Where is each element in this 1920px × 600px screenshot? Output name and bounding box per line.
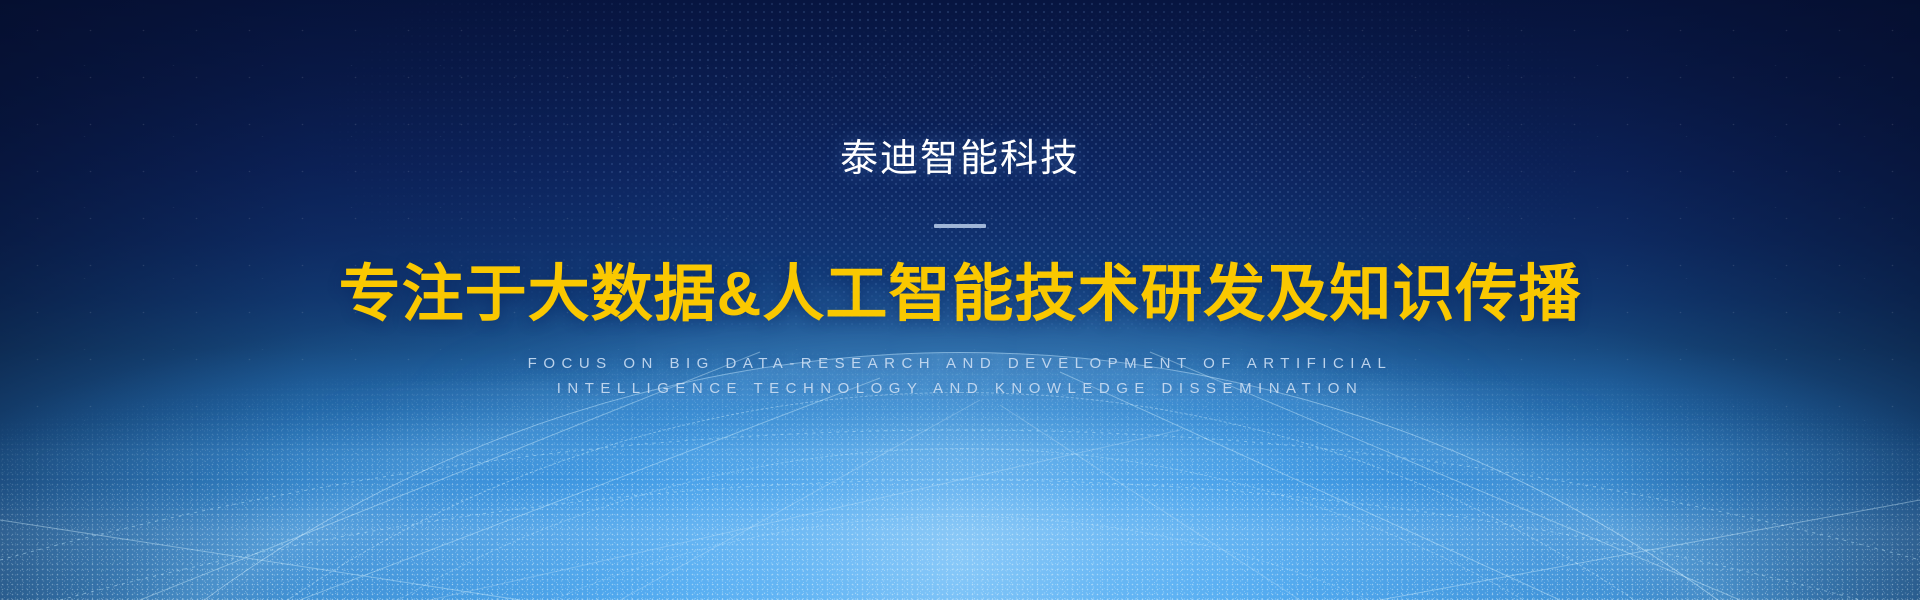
- headline: 专注于大数据&人工智能技术研发及知识传播: [339, 264, 1582, 326]
- subtitle-line-2: INTELLIGENCE TECHNOLOGY AND KNOWLEDGE DI…: [528, 376, 1393, 401]
- brand-title: 泰迪智能科技: [840, 140, 1080, 178]
- title-divider: [934, 224, 986, 228]
- banner-content: 泰迪智能科技 专注于大数据&人工智能技术研发及知识传播 FOCUS ON BIG…: [0, 0, 1920, 600]
- subtitle: FOCUS ON BIG DATA-RESEARCH AND DEVELOPME…: [528, 351, 1393, 401]
- subtitle-line-1: FOCUS ON BIG DATA-RESEARCH AND DEVELOPME…: [528, 351, 1393, 376]
- hero-banner: 泰迪智能科技 专注于大数据&人工智能技术研发及知识传播 FOCUS ON BIG…: [0, 0, 1920, 600]
